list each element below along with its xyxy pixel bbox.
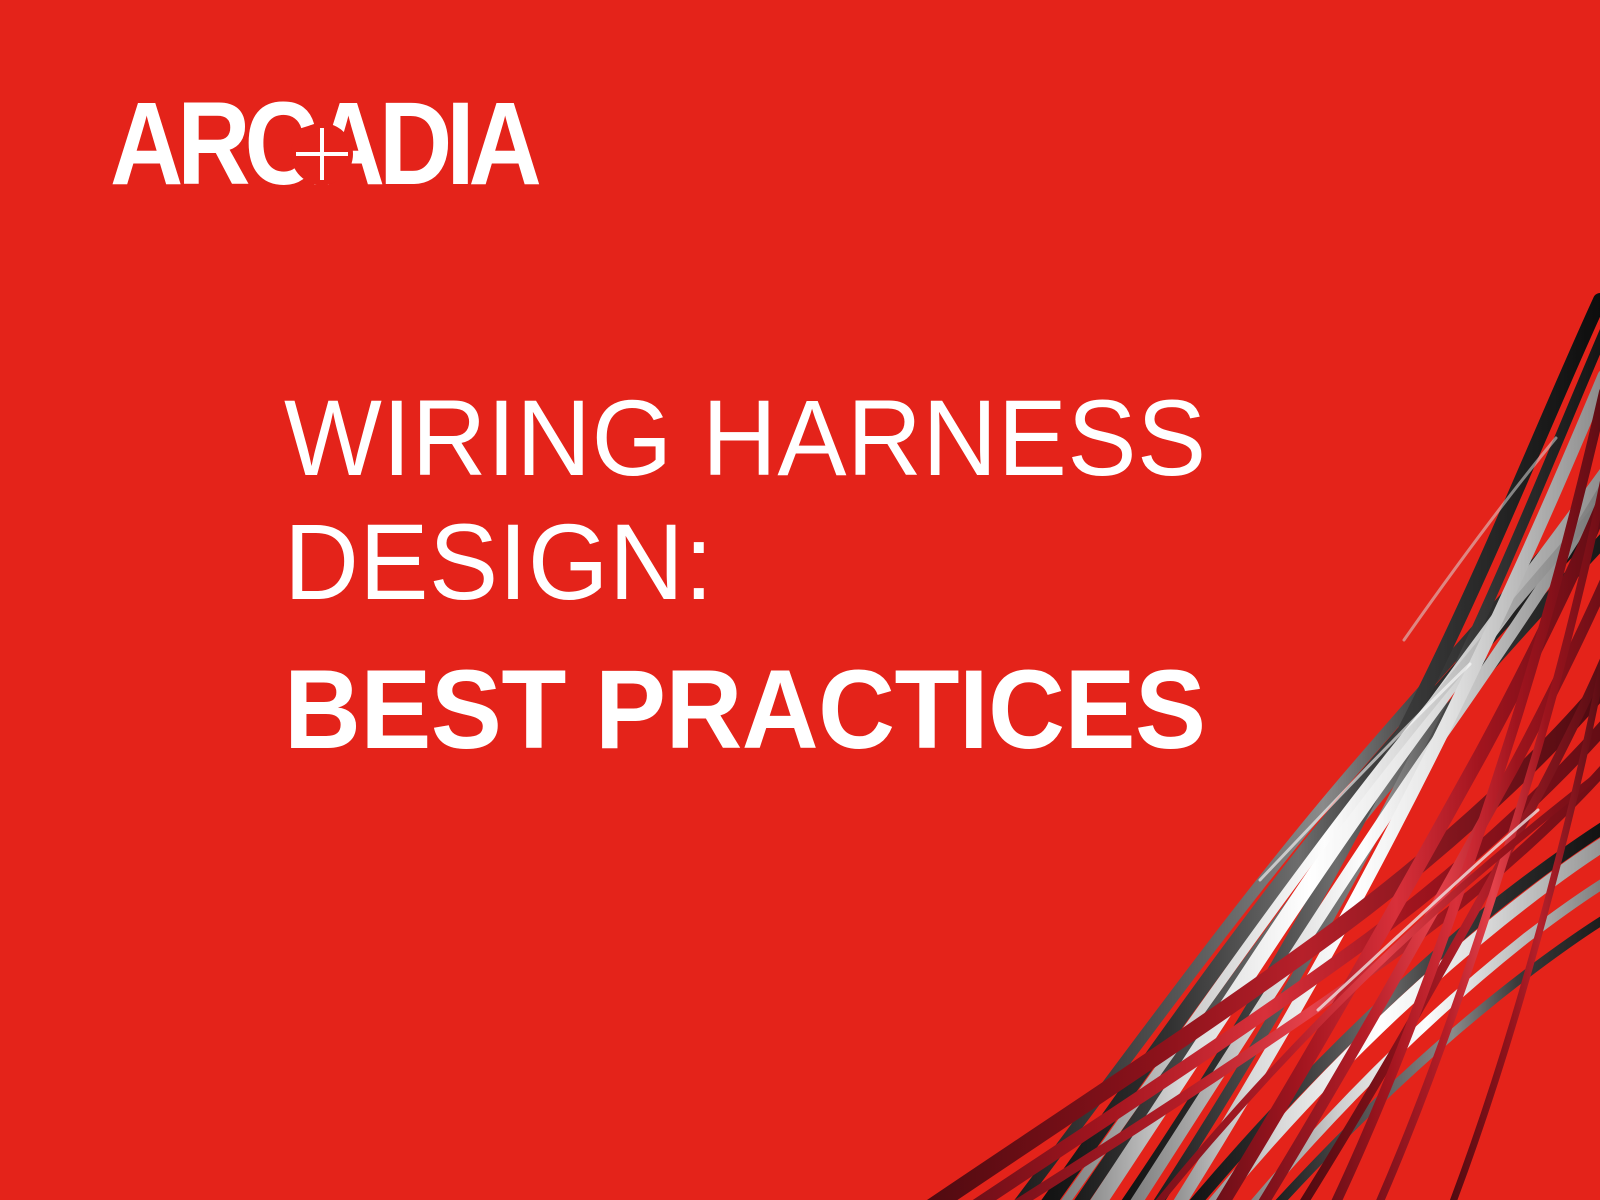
headline-block: WIRING HARNESS DESIGN: BEST PRACTICES bbox=[284, 376, 1324, 770]
arcadia-logo[interactable]: ARCADIA bbox=[110, 96, 650, 200]
title-line-2: DESIGN: bbox=[284, 500, 1282, 624]
title-line-3-emphasis: BEST PRACTICES bbox=[284, 650, 1272, 770]
title-slide: ARCADIA WIRING HARNESS DESIGN: BEST PRAC… bbox=[0, 0, 1600, 1200]
title-line-1: WIRING HARNESS bbox=[284, 376, 1282, 500]
arcadia-wordmark: ARCADIA bbox=[110, 96, 650, 200]
crosshair-plus-icon bbox=[291, 123, 353, 185]
